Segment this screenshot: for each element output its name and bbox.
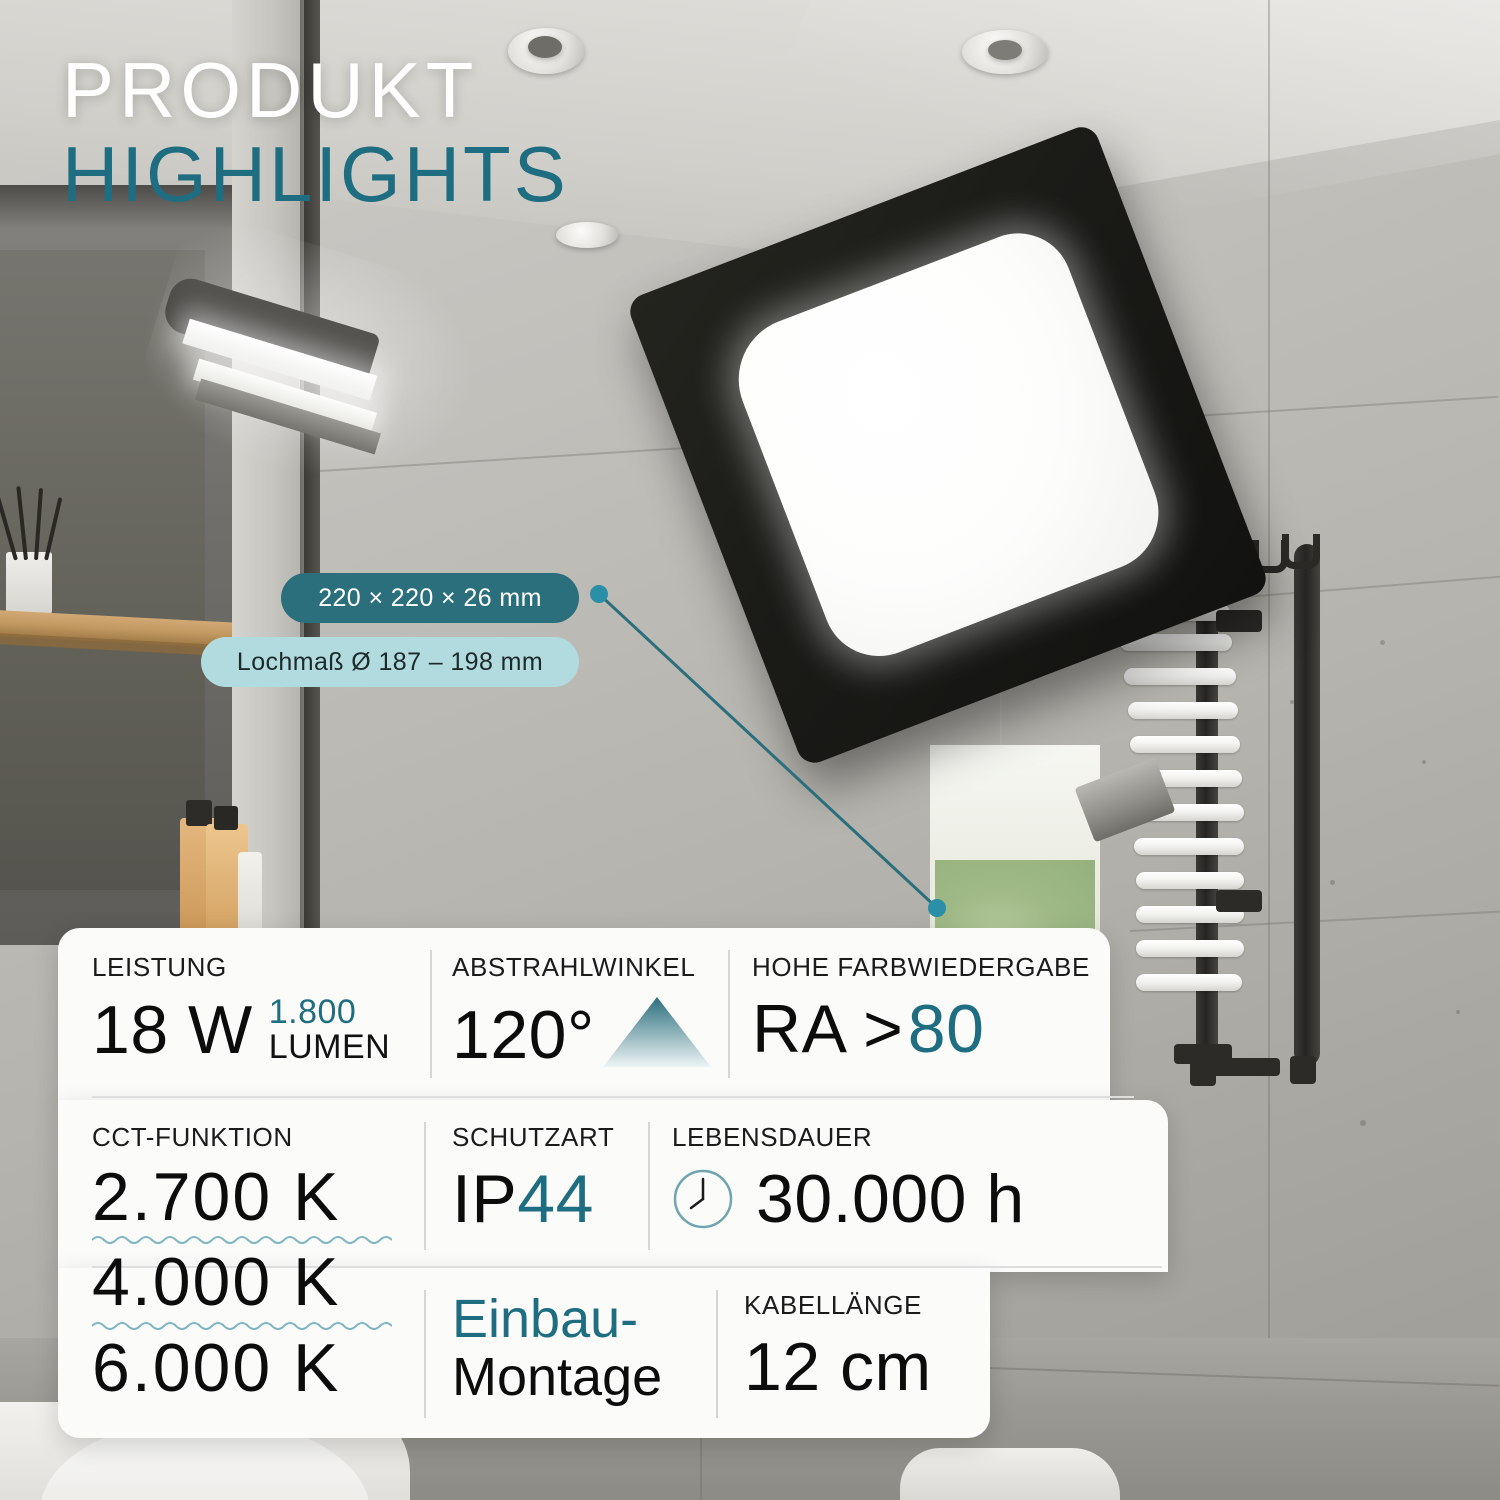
ceiling-spot-2-center-icon [988,40,1022,60]
radiator-bar [1136,940,1244,957]
spec-cct[interactable]: CCT-FUNKTION 2.700 K 4.000 K 6.000 K [92,1122,392,1403]
spec-cable-value: 12 cm [744,1333,932,1401]
spec-cri-prefix: RA > [752,991,903,1067]
spec-mounting-line-1: Einbau- [452,1290,662,1348]
clock-icon [672,1168,734,1230]
spec-cct-value-1: 2.700 K [92,1163,392,1232]
callout-dimensions-text: 220 × 220 × 26 mm [318,584,542,613]
spec-cct-label: CCT-FUNKTION [92,1122,392,1153]
spec-lumen: 1.800 LUMEN [269,995,391,1064]
wall-speckle [1380,640,1385,645]
spec-mounting[interactable]: Einbau- Montage [452,1290,662,1407]
reed-diffuser-vase [6,552,52,614]
page-title: PRODUKT HIGHLIGHTS [62,52,822,216]
radiator-pipe [1190,1058,1280,1076]
spec-lumen-value: 1.800 [269,995,391,1030]
spec-cri[interactable]: HOHE FARBWIEDERGABE RA > 80 [752,952,1090,1063]
bottle-pump [186,800,212,826]
spec-cable-label: KABELLÄNGE [744,1290,932,1321]
spec-mounting-line-2: Montage [452,1348,662,1406]
spec-protection-value: 44 [517,1161,594,1237]
spec-beam-angle[interactable]: ABSTRAHLWINKEL 120° [452,952,713,1069]
spec-cable[interactable]: KABELLÄNGE 12 cm [744,1290,932,1401]
spec-lifetime-value: 30.000 h [756,1165,1025,1233]
wall-speckle [1360,1120,1366,1126]
spec-beam-angle-value: 120° [452,1001,595,1069]
radiator-bar [1136,974,1242,991]
spec-power[interactable]: LEISTUNG 18 W 1.800 LUMEN [92,952,390,1064]
floor-object [900,1448,1120,1500]
spring-clip [1074,758,1175,843]
spec-cct-value-2: 4.000 K [92,1248,392,1317]
wall-speckle [1422,760,1426,764]
ceiling-spot-3-icon [556,222,618,248]
spec-protection-label: SCHUTZART [452,1122,614,1153]
spec-lifetime[interactable]: LEBENSDAUER 30.000 h [672,1122,1025,1233]
wall-speckle [1330,880,1335,885]
bottle-pump [214,806,238,830]
wall-speckle [1456,1010,1460,1014]
title-line-produkt: PRODUKT [62,52,822,128]
radiator-pipe [1290,1056,1316,1084]
spec-cct-value-3: 6.000 K [92,1334,392,1403]
spec-lifetime-label: LEBENSDAUER [672,1122,1025,1153]
beam-cone-icon [601,995,713,1069]
spec-protection-prefix: IP [452,1161,517,1237]
spec-beam-angle-label: ABSTRAHLWINKEL [452,952,713,983]
callout-cutout-text: Lochmaß Ø 187 – 198 mm [237,648,543,677]
spec-protection[interactable]: SCHUTZART IP44 [452,1122,614,1233]
callout-dimensions-badge[interactable]: 220 × 220 × 26 mm [281,573,579,623]
callout-leader-line [585,582,965,922]
callout-cutout-badge[interactable]: Lochmaß Ø 187 – 198 mm [201,637,579,687]
spec-lumen-unit: LUMEN [269,1030,391,1065]
spec-cri-label: HOHE FARBWIEDERGABE [752,952,1090,983]
spec-power-label: LEISTUNG [92,952,390,983]
title-line-highlights: HIGHLIGHTS [62,134,822,215]
spec-cri-value: 80 [908,991,985,1067]
infographic-stage: PRODUKT HIGHLIGHTS 220 × 220 × 26 mm Loc… [0,0,1500,1500]
spec-power-value: 18 W [92,996,253,1064]
